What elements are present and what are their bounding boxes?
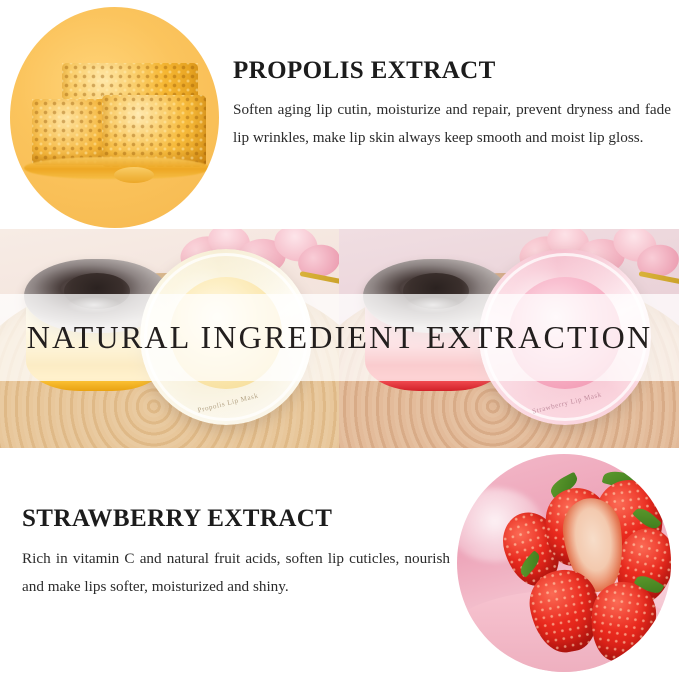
strawberry-body-text: Rich in vitamin C and natural fruit acid… bbox=[22, 545, 450, 601]
honey-drip bbox=[114, 167, 154, 183]
strawberries-photo bbox=[457, 454, 671, 672]
strawberry-text-block: STRAWBERRY EXTRACT Rich in vitamin C and… bbox=[22, 504, 454, 601]
honeycomb-artwork bbox=[10, 7, 219, 228]
propolis-heading: PROPOLIS EXTRACT bbox=[233, 56, 673, 86]
propolis-body-text: Soften aging lip cutin, moisturize and r… bbox=[233, 96, 671, 152]
infographic-page: PROPOLIS EXTRACT Soften aging lip cutin,… bbox=[0, 0, 679, 679]
strawberry-section: STRAWBERRY EXTRACT Rich in vitamin C and… bbox=[0, 448, 679, 679]
propolis-text-block: PROPOLIS EXTRACT Soften aging lip cutin,… bbox=[233, 56, 673, 152]
propolis-section: PROPOLIS EXTRACT Soften aging lip cutin,… bbox=[0, 0, 679, 229]
strawberry-heading: STRAWBERRY EXTRACT bbox=[22, 504, 454, 534]
banner-headline: NATURAL INGREDIENT EXTRACTION bbox=[0, 294, 679, 381]
honeycomb-photo bbox=[10, 7, 219, 228]
ingredient-banner: Propolis Lip Mask bbox=[0, 229, 679, 448]
